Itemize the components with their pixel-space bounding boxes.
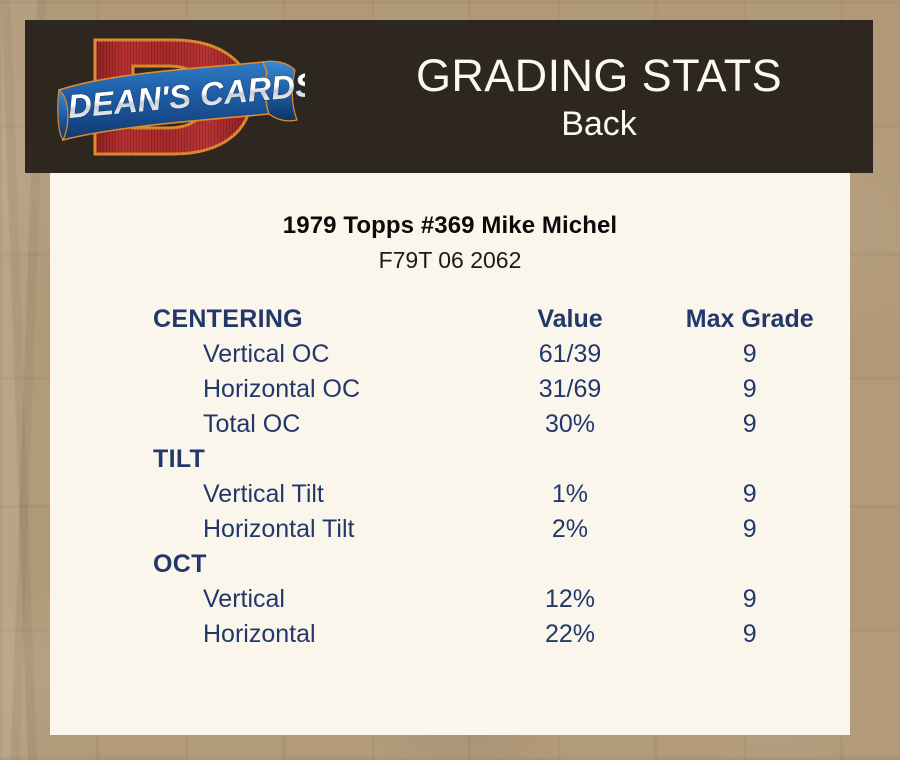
grading-stats-table: CENTERING Value Max Grade Vertical OC 61… bbox=[50, 302, 850, 652]
card-serial-number: F79T 06 2062 bbox=[50, 247, 850, 274]
card-title: 1979 Topps #369 Mike Michel bbox=[50, 212, 850, 240]
stat-max-grade: 9 bbox=[649, 617, 850, 652]
table-row: Total OC 30% 9 bbox=[50, 407, 850, 442]
stat-label: Horizontal OC bbox=[50, 372, 491, 407]
stat-max-grade: 9 bbox=[649, 372, 850, 407]
section-value-empty bbox=[491, 547, 650, 582]
section-header-tilt: TILT bbox=[50, 442, 491, 477]
stat-label: Horizontal bbox=[50, 617, 491, 652]
stat-label: Vertical OC bbox=[50, 337, 491, 372]
stat-max-grade: 9 bbox=[649, 582, 850, 617]
table-row: Vertical 12% 9 bbox=[50, 582, 850, 617]
content-panel: 1979 Topps #369 Mike Michel F79T 06 2062… bbox=[50, 173, 850, 735]
column-header-max-grade: Max Grade bbox=[649, 302, 850, 337]
table-row: Horizontal 22% 9 bbox=[50, 617, 850, 652]
stat-max-grade: 9 bbox=[649, 512, 850, 547]
stat-max-grade: 9 bbox=[649, 477, 850, 512]
stat-label: Horizontal Tilt bbox=[50, 512, 491, 547]
stat-label: Vertical Tilt bbox=[50, 477, 491, 512]
stat-value: 2% bbox=[491, 512, 650, 547]
column-header-value: Value bbox=[491, 302, 650, 337]
table-header-row: CENTERING Value Max Grade bbox=[50, 302, 850, 337]
section-header-oct: OCT bbox=[50, 547, 491, 582]
stat-value: 1% bbox=[491, 477, 650, 512]
section-header-centering: CENTERING bbox=[50, 302, 491, 337]
stat-value: 30% bbox=[491, 407, 650, 442]
page-subtitle: Back bbox=[561, 104, 637, 144]
grading-stats-body: CENTERING Value Max Grade Vertical OC 61… bbox=[50, 302, 850, 652]
section-row-oct: OCT bbox=[50, 547, 850, 582]
table-row: Vertical OC 61/39 9 bbox=[50, 337, 850, 372]
stat-max-grade: 9 bbox=[649, 337, 850, 372]
section-grade-empty bbox=[649, 442, 850, 477]
header-bar: DEAN'S CARDS GRADING STATS Back bbox=[25, 20, 873, 173]
section-row-tilt: TILT bbox=[50, 442, 850, 477]
section-grade-empty bbox=[649, 547, 850, 582]
table-row: Horizontal Tilt 2% 9 bbox=[50, 512, 850, 547]
header-title-block: GRADING STATS Back bbox=[325, 20, 873, 173]
stat-value: 61/39 bbox=[491, 337, 650, 372]
stat-value: 31/69 bbox=[491, 372, 650, 407]
stat-value: 12% bbox=[491, 582, 650, 617]
stat-label: Vertical bbox=[50, 582, 491, 617]
table-row: Vertical Tilt 1% 9 bbox=[50, 477, 850, 512]
section-value-empty bbox=[491, 442, 650, 477]
deans-cards-logo-svg: DEAN'S CARDS bbox=[55, 28, 305, 166]
table-row: Horizontal OC 31/69 9 bbox=[50, 372, 850, 407]
stat-value: 22% bbox=[491, 617, 650, 652]
stat-label: Total OC bbox=[50, 407, 491, 442]
stat-max-grade: 9 bbox=[649, 407, 850, 442]
deans-cards-logo: DEAN'S CARDS bbox=[55, 28, 305, 166]
page-title: GRADING STATS bbox=[416, 50, 782, 102]
